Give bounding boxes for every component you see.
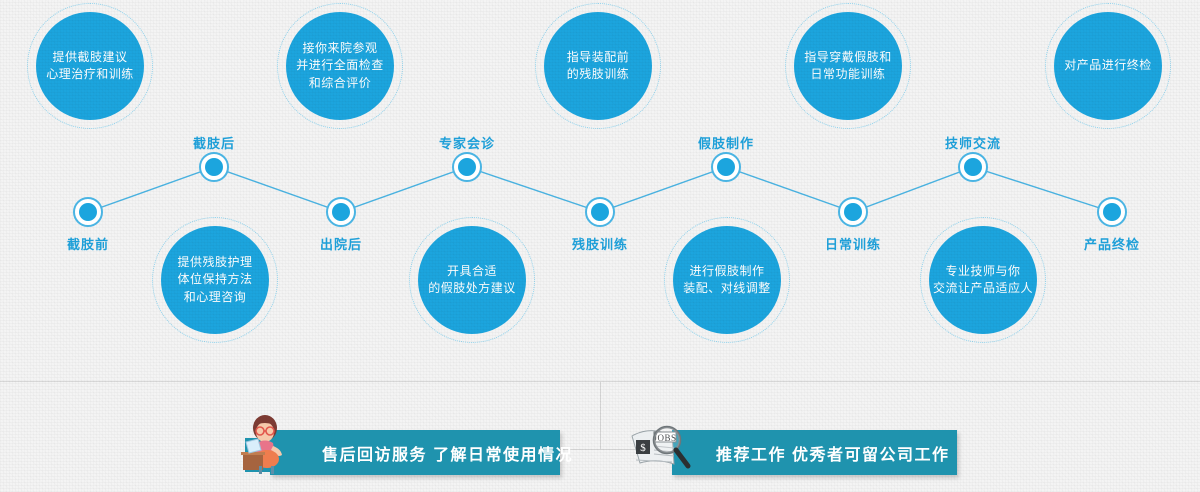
timeline-node-截肢前[interactable] (73, 197, 103, 227)
bottom-banner-label: 售后回访服务 了解日常使用情况 (322, 441, 573, 465)
timeline-node-label: 技师交流 (945, 133, 1001, 152)
bottom-banner-label: 推荐工作 优秀者可留公司工作 (716, 441, 949, 465)
timeline-node-label: 专家会诊 (439, 133, 495, 152)
timeline-node-label: 残肢训练 (572, 234, 628, 253)
timeline-node-截肢后[interactable] (199, 152, 229, 182)
timeline-node-label: 假肢制作 (698, 133, 754, 152)
timeline-node-label: 出院后 (320, 234, 362, 253)
timeline-node-出院后[interactable] (326, 197, 356, 227)
timeline-node-label: 日常训练 (825, 234, 881, 253)
bottom-banner-job-referral[interactable]: 推荐工作 优秀者可留公司工作 (672, 430, 957, 475)
timeline-node-label: 截肢前 (67, 234, 109, 253)
timeline-node-假肢制作[interactable] (711, 152, 741, 182)
timeline-node-label: 产品终检 (1084, 234, 1140, 253)
timeline-node-日常训练[interactable] (838, 197, 868, 227)
bottom-banner-after-sales[interactable]: 售后回访服务 了解日常使用情况 (270, 430, 560, 475)
timeline-node-专家会诊[interactable] (452, 152, 482, 182)
infographic-canvas: 提供截肢建议心理治疗和训练接你来院参观并进行全面检查和综合评价指导装配前的残肢训… (0, 0, 1200, 492)
timeline-node-label: 截肢后 (193, 133, 235, 152)
timeline-node-技师交流[interactable] (958, 152, 988, 182)
timeline-node-产品终检[interactable] (1097, 197, 1127, 227)
timeline-node-残肢训练[interactable] (585, 197, 615, 227)
